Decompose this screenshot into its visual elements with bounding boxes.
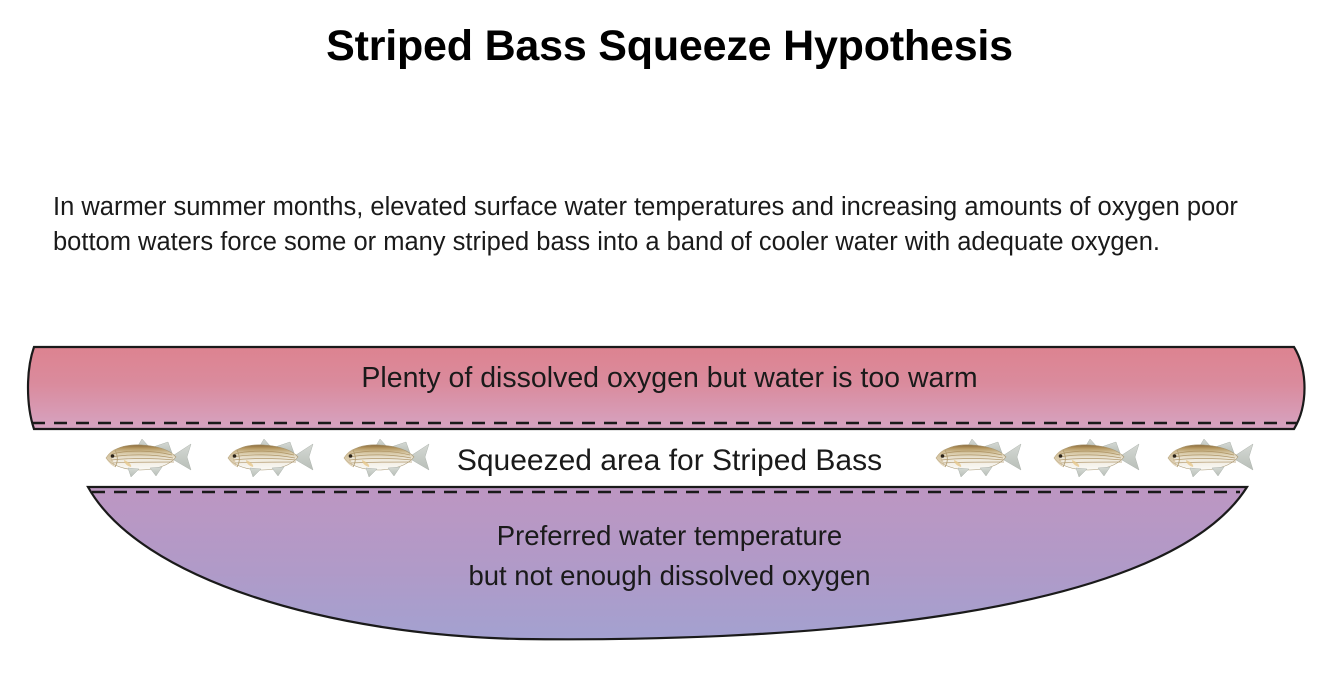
intro-paragraph: In warmer summer months, elevated surfac… (53, 190, 1293, 260)
warm-layer-shape (28, 347, 1305, 429)
slide-canvas: Striped Bass Squeeze Hypothesis In warme… (0, 0, 1339, 692)
diagram-shapes (0, 330, 1339, 660)
bottom-layer-shape (88, 487, 1247, 639)
page-title: Striped Bass Squeeze Hypothesis (0, 22, 1339, 71)
striped-bass-squeeze-diagram: Plenty of dissolved oxygen but water is … (0, 330, 1339, 660)
